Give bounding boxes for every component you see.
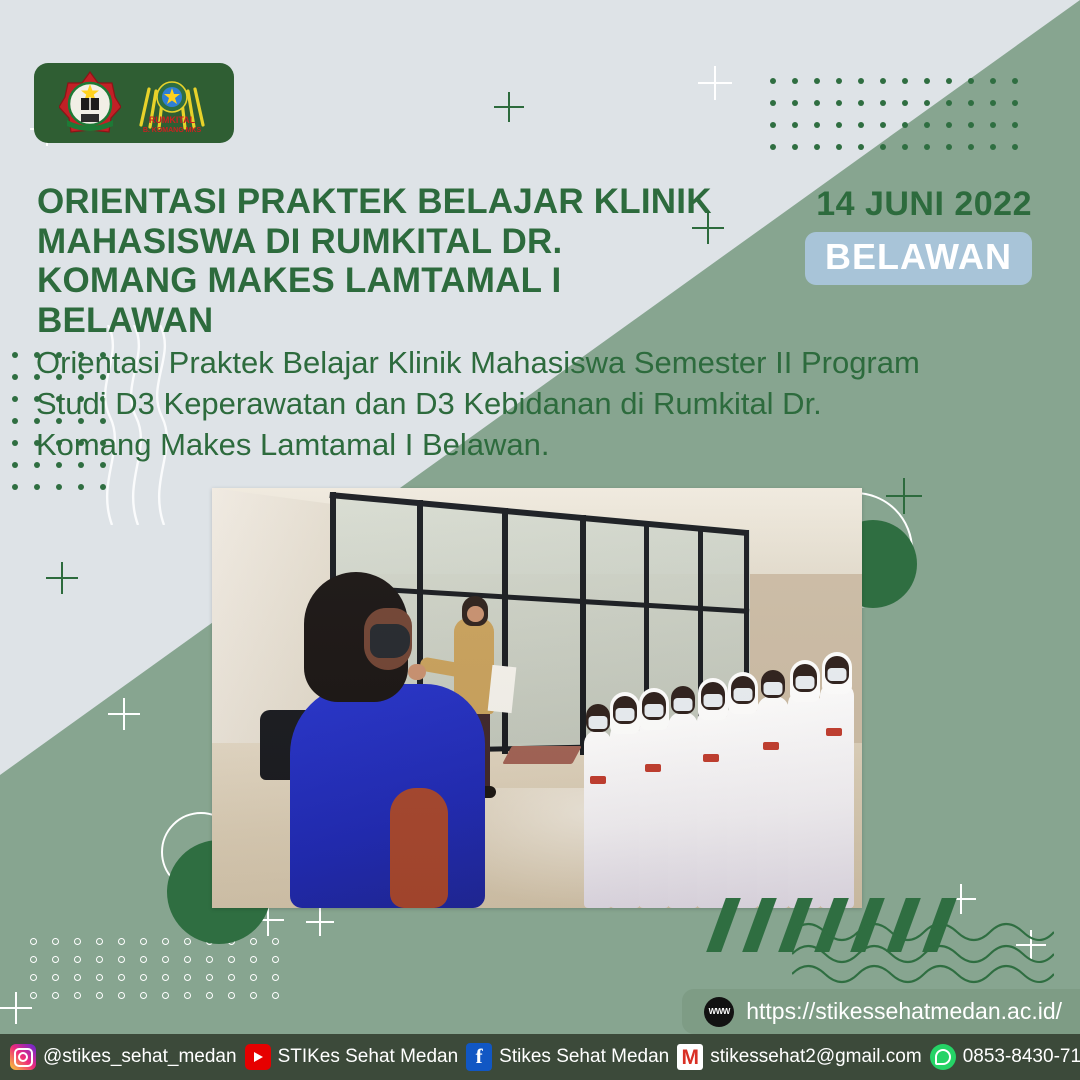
grid-dot [74, 992, 81, 999]
grid-dot [990, 144, 996, 150]
plus-mark-icon [46, 562, 78, 594]
svg-text:RUMKITAL: RUMKITAL [149, 115, 196, 125]
grid-dot [12, 418, 18, 424]
grid-dot [792, 122, 798, 128]
plus-mark-icon [306, 908, 334, 936]
grid-dot [228, 992, 235, 999]
grid-dot [206, 992, 213, 999]
website-pill[interactable]: WWW https://stikessehatmedan.ac.id/ [682, 989, 1080, 1034]
grid-dot [184, 938, 191, 945]
grid-dot [880, 122, 886, 128]
email-address: stikessehat2@gmail.com [710, 1046, 921, 1068]
grid-dot [184, 956, 191, 963]
grid-dot [814, 78, 820, 84]
grid-dot [924, 122, 930, 128]
grid-dot [968, 122, 974, 128]
grid-dot [52, 974, 59, 981]
photo-scene [212, 488, 862, 908]
grid-dot [250, 974, 257, 981]
grid-dot [272, 974, 279, 981]
grid-dot [814, 100, 820, 106]
rumkital-emblem-icon: RUMKITAL B. KOMANG MKS [135, 71, 209, 135]
grid-dot [30, 938, 37, 945]
grid-dot [770, 144, 776, 150]
grid-dot [52, 992, 59, 999]
globe-label: WWW [709, 1007, 730, 1016]
grid-dot [96, 974, 103, 981]
plus-mark-icon [494, 92, 524, 122]
grid-dot [12, 374, 18, 380]
grid-dot [836, 122, 842, 128]
grid-dot [228, 974, 235, 981]
grid-dot [206, 956, 213, 963]
social-footer-bar: @stikes_sehat_medan STIKes Sehat Medan f… [0, 1034, 1080, 1080]
grid-dot [924, 78, 930, 84]
grid-dot [902, 144, 908, 150]
grid-dot [968, 100, 974, 106]
grid-dot [968, 144, 974, 150]
footer-item-youtube[interactable]: STIKes Sehat Medan [245, 1044, 459, 1070]
grid-dot [946, 78, 952, 84]
grid-dot [12, 462, 18, 468]
whatsapp-number: 0853-8430-7130 [963, 1046, 1080, 1068]
grid-dot [162, 992, 169, 999]
grid-dot [184, 992, 191, 999]
grid-dot [1012, 122, 1018, 128]
grid-dot [990, 100, 996, 106]
grid-dot [792, 100, 798, 106]
grid-dot [12, 396, 18, 402]
grid-dot [990, 78, 996, 84]
footer-item-whatsapp[interactable]: 0853-8430-7130 [930, 1044, 1080, 1070]
grid-dot [52, 938, 59, 945]
grid-dot [140, 992, 147, 999]
facebook-page: Stikes Sehat Medan [499, 1046, 669, 1068]
dot-grid-top-right [770, 78, 1020, 168]
grid-dot [836, 78, 842, 84]
grid-dot [118, 938, 125, 945]
event-description: Orientasi Praktek Belajar Klinik Mahasis… [36, 343, 936, 466]
grid-dot [162, 974, 169, 981]
grid-dot [74, 974, 81, 981]
youtube-icon [245, 1044, 271, 1070]
footer-item-instagram[interactable]: @stikes_sehat_medan [10, 1044, 237, 1070]
plus-mark-icon [108, 698, 140, 730]
grid-dot [858, 144, 864, 150]
grid-dot [924, 144, 930, 150]
grid-dot [814, 122, 820, 128]
page-title: ORIENTASI PRAKTEK BELAJAR KLINIK MAHASIS… [37, 182, 717, 340]
grid-dot [250, 938, 257, 945]
grid-dot [96, 956, 103, 963]
grid-dot [184, 974, 191, 981]
grid-dot [118, 974, 125, 981]
poster-canvas: RUMKITAL B. KOMANG MKS ORIENTASI PRAKTEK… [0, 0, 1080, 1080]
grid-dot [880, 100, 886, 106]
globe-www-icon: WWW [704, 997, 734, 1027]
grid-dot [78, 484, 84, 490]
grid-dot [1012, 144, 1018, 150]
location-badge: BELAWAN [805, 232, 1032, 285]
grid-dot [880, 78, 886, 84]
grid-dot [880, 144, 886, 150]
grid-dot [12, 440, 18, 446]
grid-dot [162, 956, 169, 963]
footer-item-gmail[interactable]: M stikessehat2@gmail.com [677, 1044, 921, 1070]
grid-dot [30, 974, 37, 981]
grid-dot [836, 144, 842, 150]
grid-dot [74, 956, 81, 963]
gmail-icon: M [677, 1044, 703, 1070]
grid-dot [34, 484, 40, 490]
grid-dot [946, 122, 952, 128]
grid-dot [968, 78, 974, 84]
footer-item-facebook[interactable]: f Stikes Sehat Medan [466, 1043, 669, 1071]
grid-dot [792, 144, 798, 150]
website-url: https://stikessehatmedan.ac.id/ [746, 998, 1062, 1025]
grid-dot [946, 144, 952, 150]
facebook-icon: f [466, 1043, 492, 1071]
grid-dot [56, 484, 62, 490]
wavy-lines-bottom-right [792, 918, 1054, 986]
grid-dot [902, 100, 908, 106]
plus-mark-icon [698, 66, 732, 100]
grid-dot [228, 956, 235, 963]
grid-dot [74, 938, 81, 945]
grid-dot [118, 992, 125, 999]
grid-dot [96, 992, 103, 999]
instagram-icon [10, 1044, 36, 1070]
grid-dot [140, 956, 147, 963]
grid-dot [902, 78, 908, 84]
grid-dot [858, 122, 864, 128]
stikes-emblem-icon [59, 70, 121, 136]
event-date: 14 JUNI 2022 [816, 185, 1032, 224]
grid-dot [96, 938, 103, 945]
grid-dot [1012, 100, 1018, 106]
grid-dot [140, 938, 147, 945]
grid-dot [770, 122, 776, 128]
logo-badge: RUMKITAL B. KOMANG MKS [34, 63, 234, 143]
plus-mark-icon [0, 992, 32, 1024]
grid-dot [946, 100, 952, 106]
grid-dot [30, 956, 37, 963]
grid-dot [52, 956, 59, 963]
grid-dot [814, 144, 820, 150]
dot-grid-bottom-left [30, 938, 290, 998]
grid-dot [770, 100, 776, 106]
grid-dot [272, 956, 279, 963]
grid-dot [12, 484, 18, 490]
grid-dot [990, 122, 996, 128]
whatsapp-icon [930, 1044, 956, 1070]
youtube-channel: STIKes Sehat Medan [278, 1046, 459, 1068]
grid-dot [272, 938, 279, 945]
grid-dot [206, 974, 213, 981]
grid-dot [836, 100, 842, 106]
svg-text:B. KOMANG MKS: B. KOMANG MKS [143, 127, 202, 134]
grid-dot [924, 100, 930, 106]
grid-dot [792, 78, 798, 84]
grid-dot [250, 956, 257, 963]
grid-dot [858, 100, 864, 106]
grid-dot [1012, 78, 1018, 84]
grid-dot [902, 122, 908, 128]
grid-dot [858, 78, 864, 84]
instagram-handle: @stikes_sehat_medan [43, 1046, 237, 1068]
event-photo [212, 488, 862, 908]
grid-dot [272, 992, 279, 999]
grid-dot [770, 78, 776, 84]
grid-dot [118, 956, 125, 963]
grid-dot [250, 992, 257, 999]
grid-dot [12, 352, 18, 358]
grid-dot [162, 938, 169, 945]
grid-dot [140, 974, 147, 981]
